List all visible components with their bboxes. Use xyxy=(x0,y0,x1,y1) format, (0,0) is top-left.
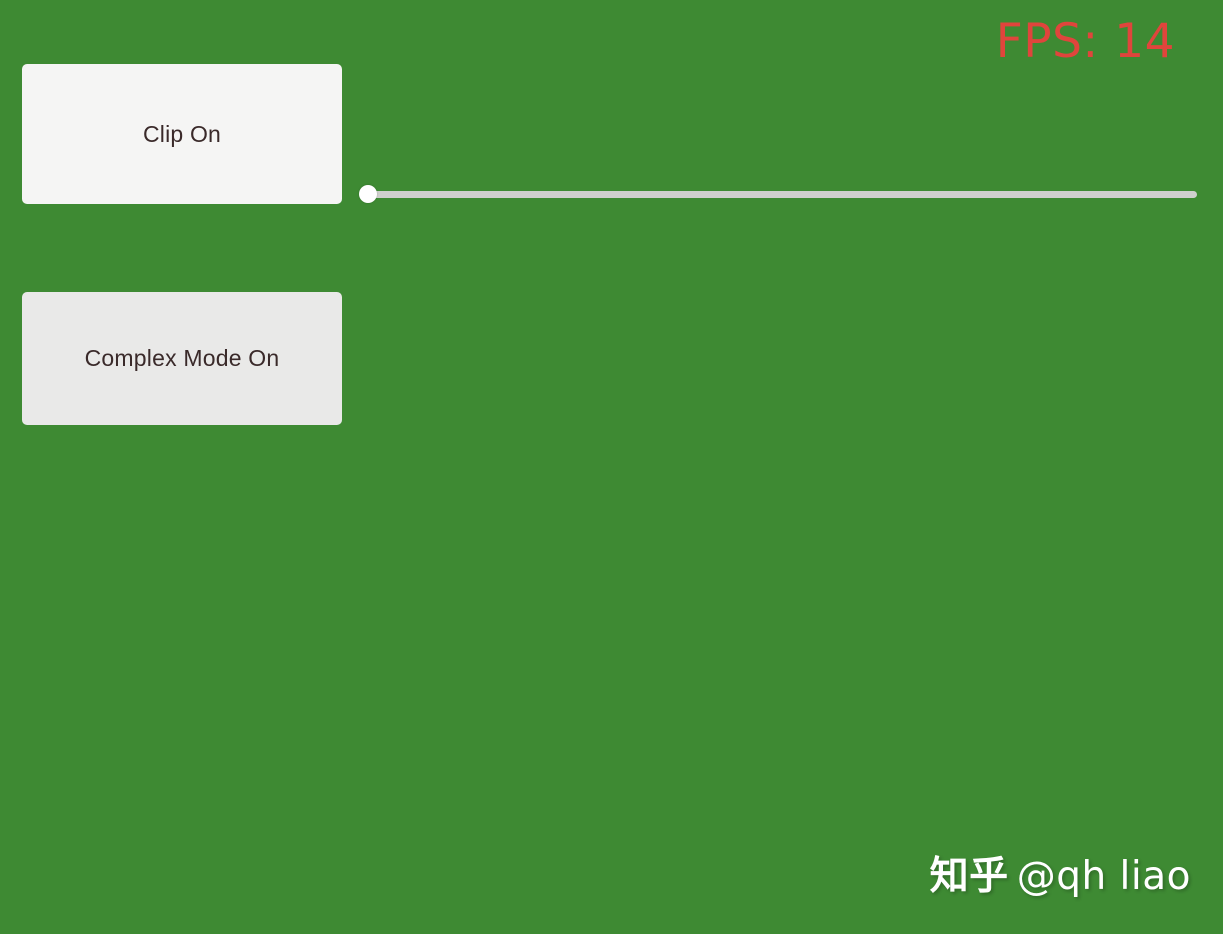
value-slider[interactable] xyxy=(359,185,1197,203)
clip-toggle-label: Clip On xyxy=(143,121,221,148)
clip-toggle-button[interactable]: Clip On xyxy=(22,64,342,204)
watermark-logo: 知乎 xyxy=(930,854,1009,899)
slider-track[interactable] xyxy=(368,191,1197,198)
complex-mode-toggle-label: Complex Mode On xyxy=(85,345,280,372)
complex-mode-toggle-button[interactable]: Complex Mode On xyxy=(22,292,342,425)
fps-counter: FPS: 14 xyxy=(996,18,1175,65)
slider-thumb[interactable] xyxy=(359,185,377,203)
watermark-handle: @qh liao xyxy=(1017,854,1191,899)
watermark: 知乎@qh liao xyxy=(930,857,1191,896)
app-canvas: FPS: 14 Clip On Complex Mode On 知乎@qh li… xyxy=(0,0,1223,934)
